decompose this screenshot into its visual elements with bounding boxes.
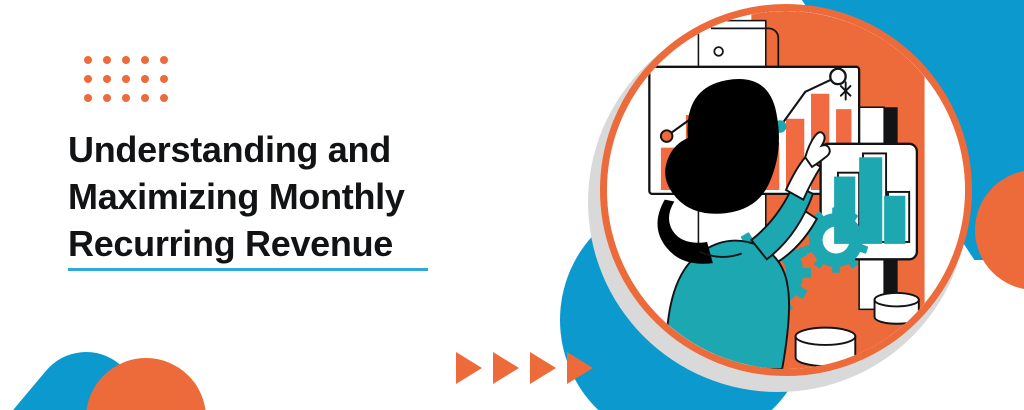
title-line-1: Understanding and xyxy=(68,129,391,170)
grid-dot xyxy=(84,94,92,102)
banner-root: Understanding and Maximizing Monthly Rec… xyxy=(0,0,1024,410)
title-underline xyxy=(68,268,428,271)
grid-dot xyxy=(84,56,92,64)
dot-grid xyxy=(84,56,179,113)
grid-dot xyxy=(160,56,168,64)
arrow-triangles xyxy=(456,352,593,384)
title-line-2: Maximizing Monthly xyxy=(68,176,405,217)
triangle-icon xyxy=(493,352,519,384)
secondary-chart-panel xyxy=(821,144,917,259)
grid-dot xyxy=(160,94,168,102)
title-line-3: Recurring Revenue xyxy=(68,223,393,264)
triangle-icon xyxy=(530,352,556,384)
grid-dot xyxy=(122,94,130,102)
grid-dot xyxy=(84,75,92,83)
grid-dot xyxy=(103,94,111,102)
grid-dot xyxy=(141,75,149,83)
grid-dot xyxy=(160,75,168,83)
triangle-icon xyxy=(567,352,593,384)
page-title: Understanding and Maximizing Monthly Rec… xyxy=(68,126,468,267)
grid-dot xyxy=(141,94,149,102)
grid-dot xyxy=(103,56,111,64)
grid-dot xyxy=(122,75,130,83)
grid-dot xyxy=(103,75,111,83)
business-analytics-illustration xyxy=(600,4,972,376)
grid-dot xyxy=(122,56,130,64)
triangle-icon xyxy=(456,352,482,384)
grid-dot xyxy=(141,56,149,64)
